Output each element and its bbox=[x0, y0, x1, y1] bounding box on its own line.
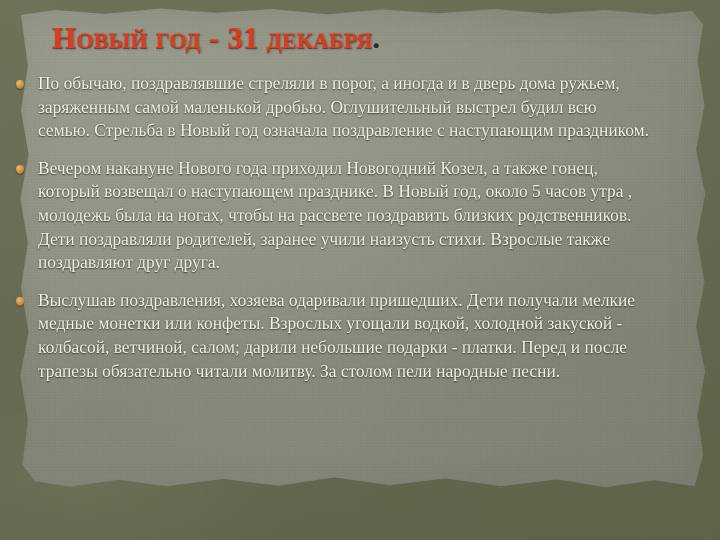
list-item: По обычаю, поздравлявшие стреляли в поро… bbox=[10, 72, 650, 143]
list-item-text: Выслушав поздравления, хозяева одаривали… bbox=[38, 290, 635, 381]
presentation-slide: Новый год - 31 декабря. По обычаю, поздр… bbox=[0, 0, 720, 540]
list-item-text: Вечером накануне Нового года приходил Но… bbox=[38, 158, 632, 272]
diamond-bullet-icon bbox=[16, 297, 24, 306]
slide-title-period: . bbox=[372, 20, 380, 55]
list-item-text: По обычаю, поздравлявшие стреляли в поро… bbox=[38, 73, 649, 140]
list-item: Выслушав поздравления, хозяева одаривали… bbox=[10, 289, 650, 383]
diamond-bullet-icon bbox=[16, 80, 24, 89]
slide-title-text: Новый год - 31 декабря bbox=[52, 20, 372, 55]
slide-content: Новый год - 31 декабря. По обычаю, поздр… bbox=[0, 0, 720, 540]
list-item: Вечером накануне Нового года приходил Но… bbox=[10, 157, 650, 275]
bullet-list: По обычаю, поздравлявшие стреляли в поро… bbox=[10, 72, 650, 383]
slide-title: Новый год - 31 декабря. bbox=[52, 20, 692, 56]
diamond-bullet-icon bbox=[16, 165, 24, 174]
